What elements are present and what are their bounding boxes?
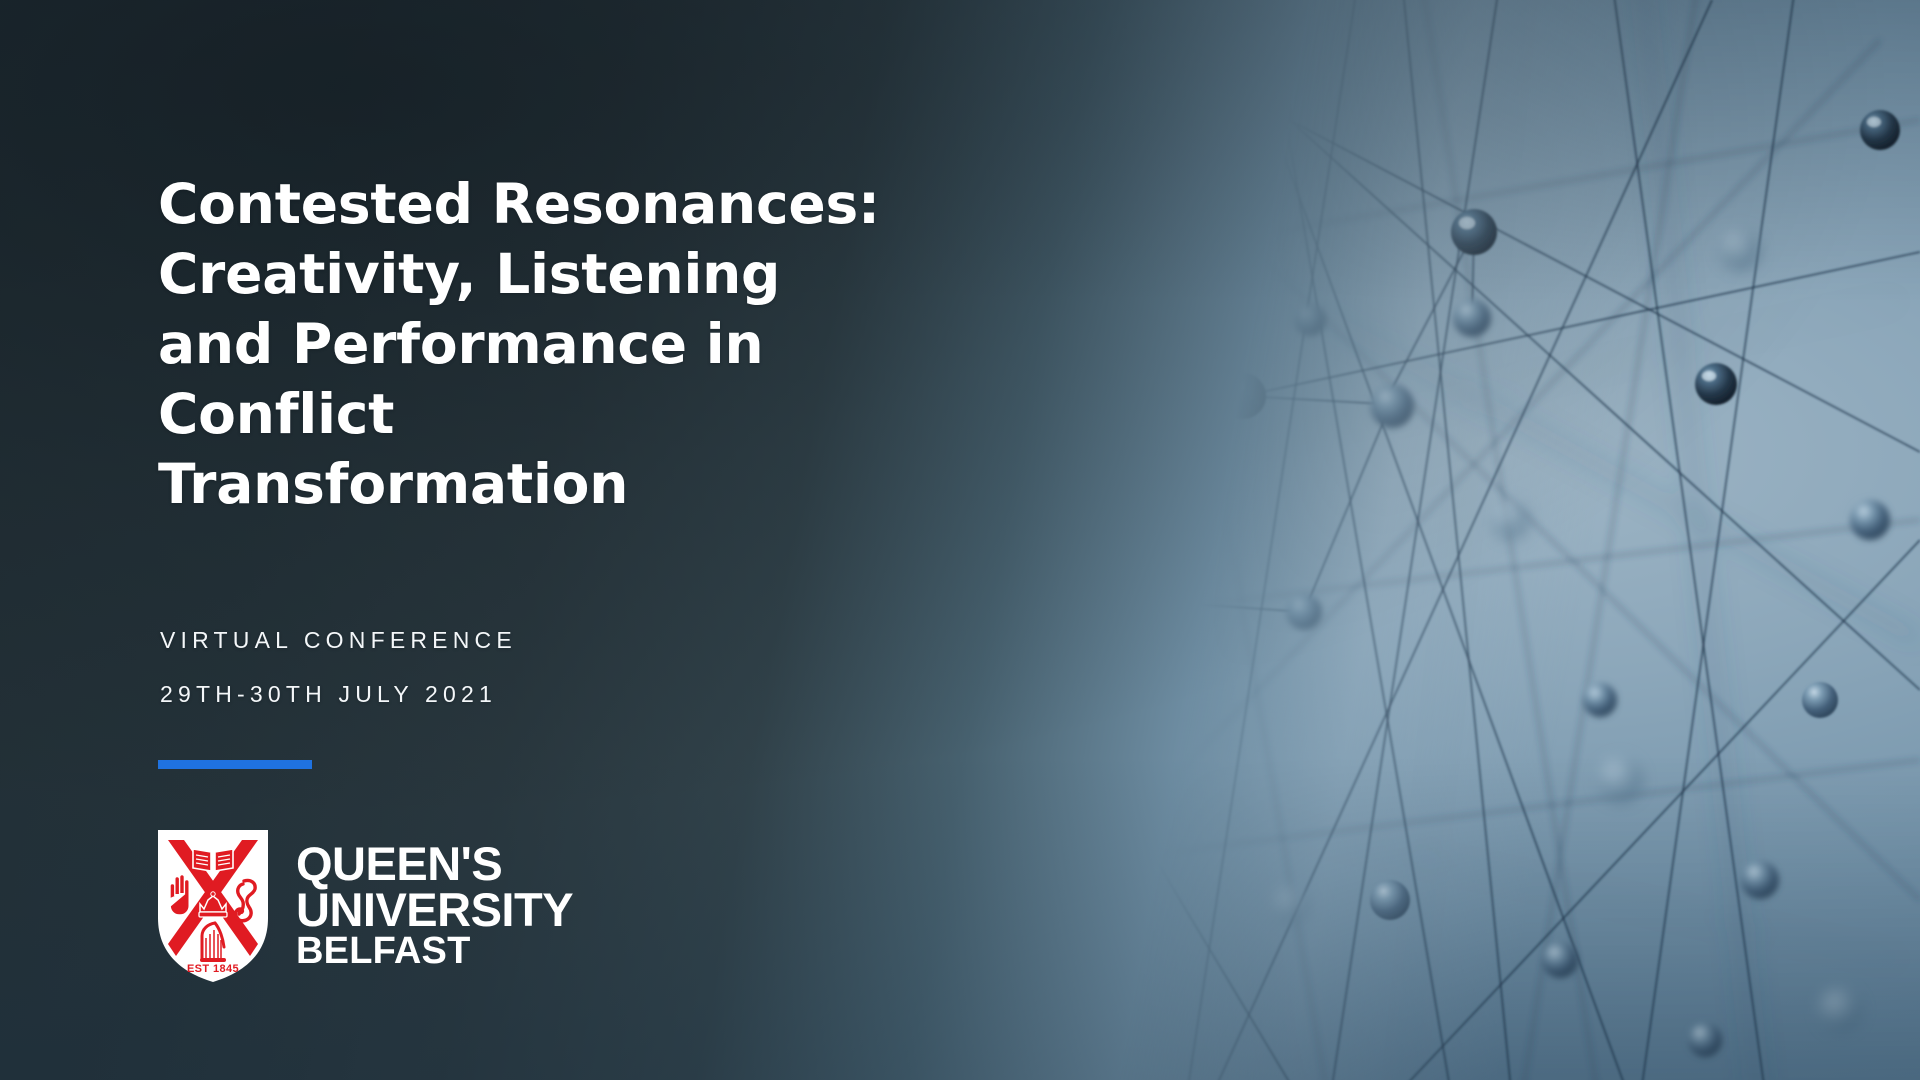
wordmark-line-belfast: BELFAST [296, 933, 573, 970]
title-line-1: Contested Resonances: [158, 169, 918, 239]
wordmark-line-queens: QUEEN'S [296, 841, 573, 887]
page-title: Contested Resonances: Creativity, Listen… [158, 169, 918, 519]
event-type-label: VIRTUAL CONFERENCE [160, 613, 517, 667]
wordmark-line-university: UNIVERSITY [296, 887, 573, 933]
event-meta: VIRTUAL CONFERENCE 29TH-30TH JULY 2021 [160, 613, 517, 721]
qub-logo: EST 1845 QUEEN'S UNIVERSITY BELFAST [154, 826, 573, 986]
slide-content: Contested Resonances: Creativity, Listen… [158, 0, 978, 1080]
event-dates-label: 29TH-30TH JULY 2021 [160, 667, 517, 721]
title-line-2: Creativity, Listening [158, 239, 918, 309]
qub-wordmark: QUEEN'S UNIVERSITY BELFAST [296, 841, 573, 970]
title-line-4: Conflict [158, 379, 918, 449]
conference-title-slide: Contested Resonances: Creativity, Listen… [0, 0, 1920, 1080]
qub-crest-icon: EST 1845 [154, 826, 272, 986]
accent-rule [158, 760, 312, 769]
title-line-5: Transformation [158, 449, 918, 519]
crest-established-text: EST 1845 [187, 963, 239, 975]
title-line-3: and Performance in [158, 309, 918, 379]
